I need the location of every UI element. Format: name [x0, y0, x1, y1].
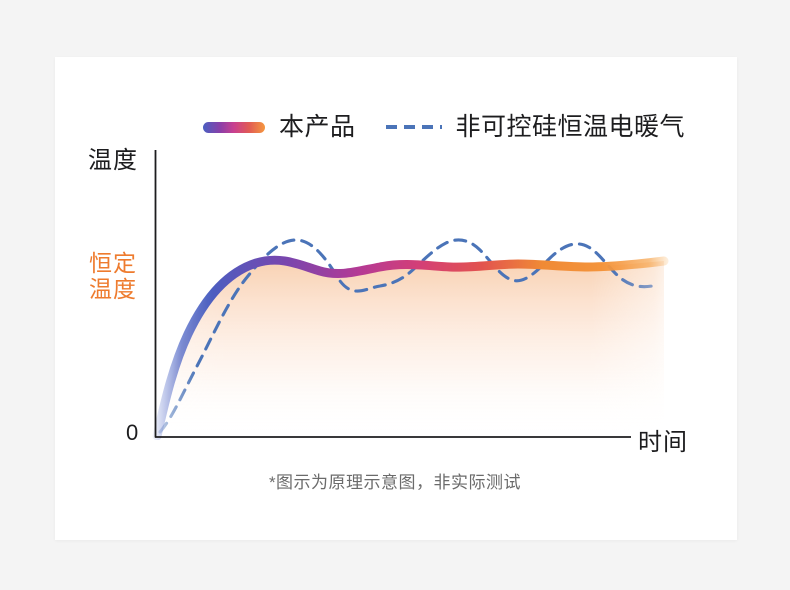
x-axis-label: 时间	[638, 422, 688, 457]
legend-label-product: 本产品	[279, 115, 356, 140]
legend-swatch-product	[203, 122, 265, 133]
chart-footnote: *图示为原理示意图，非实际测试	[0, 468, 790, 493]
origin-label: 0	[126, 420, 138, 446]
y-axis-label: 温度	[88, 140, 138, 175]
legend-swatch-comparison	[386, 125, 442, 129]
chart-page: 本产品 非可控硅恒温电暖气 温度 时间 0 恒定 温度 *图示为原理示意图，非实…	[0, 0, 790, 590]
chart-area: 本产品 非可控硅恒温电暖气 温度 时间 0 恒定 温度 *图示为原理示意图，非实…	[0, 0, 790, 590]
constant-temperature-label: 恒定 温度	[89, 250, 137, 302]
legend-label-comparison: 非可控硅恒温电暖气	[456, 115, 686, 140]
chart-legend: 本产品 非可控硅恒温电暖气	[203, 107, 685, 147]
area-fill	[157, 260, 664, 436]
